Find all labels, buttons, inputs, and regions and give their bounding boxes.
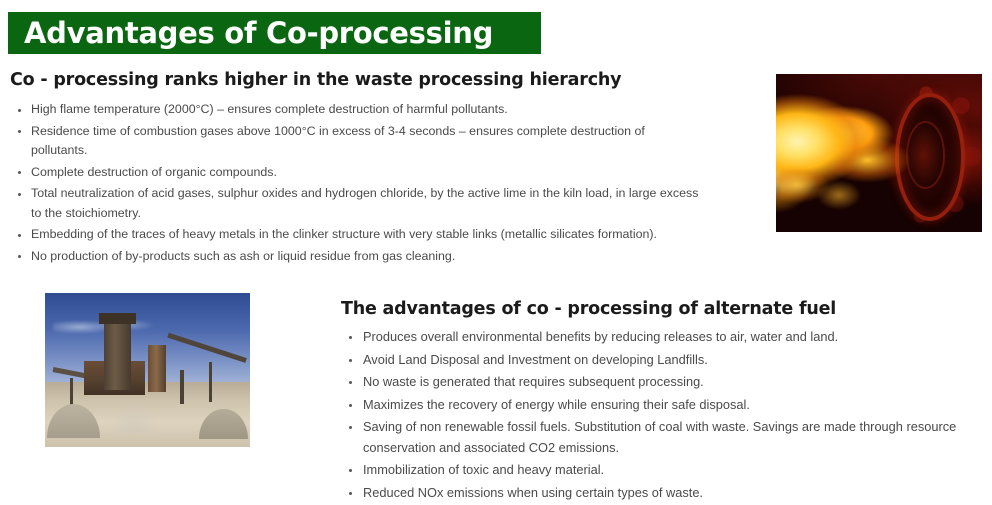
section-heading-waste-hierarchy: Co - processing ranks higher in the wast… (10, 70, 621, 90)
list-item: Embedding of the traces of heavy metals … (14, 225, 704, 245)
list-item: High flame temperature (2000°C) – ensure… (14, 100, 704, 120)
quarry-plant-photo (45, 293, 250, 447)
page-title: Advantages of Co-processing (24, 19, 493, 48)
support-leg (209, 362, 212, 402)
list-item: Avoid Land Disposal and Investment on de… (345, 350, 970, 371)
list-item: Reduced NOx emissions when using certain… (345, 483, 970, 504)
kiln-burner-flame-photo (776, 74, 982, 232)
list-item: Saving of non renewable fossil fuels. Su… (345, 417, 970, 458)
list-item: Total neutralization of acid gases, sulp… (14, 184, 704, 223)
list-item: Produces overall environmental benefits … (345, 327, 970, 348)
section-heading-alternate-fuel: The advantages of co - processing of alt… (341, 299, 836, 319)
advantages-bullet-list: High flame temperature (2000°C) – ensure… (14, 100, 704, 268)
alternate-fuel-bullet-list: Produces overall environmental benefits … (345, 327, 970, 505)
list-item: Immobilization of toxic and heavy materi… (345, 460, 970, 481)
flame-wisp (780, 166, 875, 213)
crusher-tower-cap (99, 313, 136, 324)
list-item: Residence time of combustion gases above… (14, 122, 704, 161)
list-item: Maximizes the recovery of energy while e… (345, 395, 970, 416)
list-item: No waste is generated that requires subs… (345, 372, 970, 393)
list-item: No production of by-products such as ash… (14, 247, 704, 267)
page-title-banner: Advantages of Co-processing (8, 12, 541, 54)
list-item: Complete destruction of organic compound… (14, 163, 704, 183)
